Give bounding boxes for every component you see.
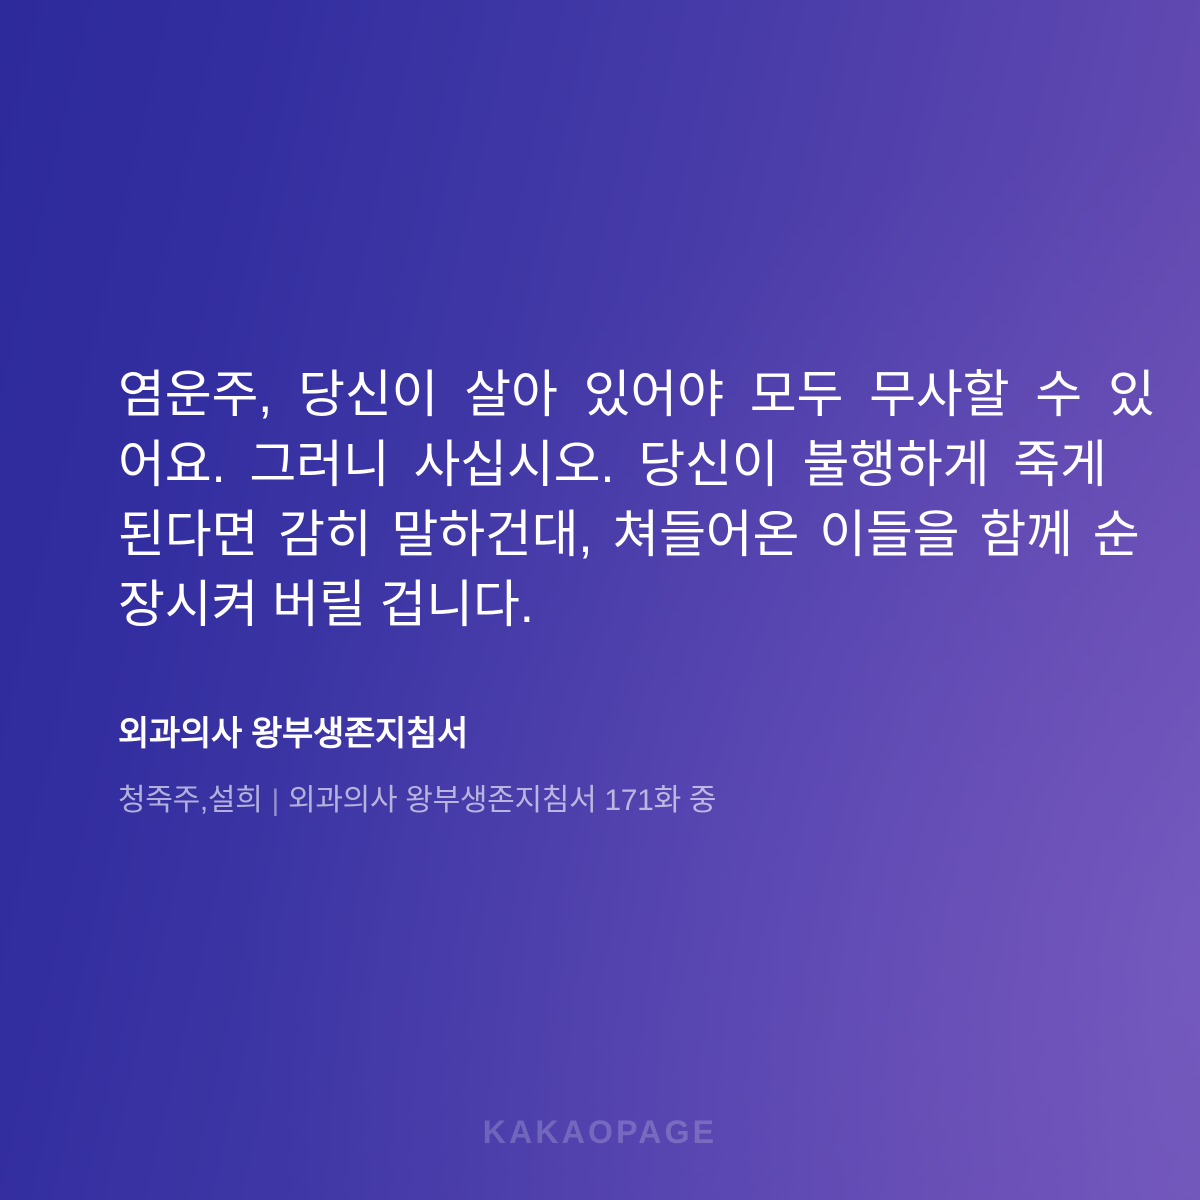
attribution: 청죽주,설희|외과의사 왕부생존지침서 171화 중 <box>118 780 1118 822</box>
separator-icon: | <box>263 780 289 822</box>
quote-card: 염운주, 당신이 살아 있어야 모두 무사할 수 있 어요. 그러니 사십시오.… <box>0 0 1200 1200</box>
quote-line: 염운주, 당신이 살아 있어야 모두 무사할 수 있 <box>118 360 1086 430</box>
work-title: 외과의사 왕부생존지침서 <box>118 712 1118 756</box>
kakaopage-wordmark: KAKAOPAGE <box>0 1112 1200 1152</box>
source-reference: 외과의사 왕부생존지침서 171화 중 <box>288 784 716 817</box>
quote-block: 염운주, 당신이 살아 있어야 모두 무사할 수 있 어요. 그러니 사십시오.… <box>118 360 1086 640</box>
quote-line: 어요. 그러니 사십시오. 당신이 불행하게 죽게 <box>118 430 1086 500</box>
quote-attribution-block: 외과의사 왕부생존지침서 청죽주,설희|외과의사 왕부생존지침서 171화 중 <box>118 712 1118 822</box>
authors: 청죽주,설희 <box>118 784 263 817</box>
quote-line: 된다면 감히 말하건대, 쳐들어온 이들을 함께 순 <box>118 500 1086 570</box>
quote-line: 장시켜 버릴 겁니다. <box>118 570 1086 640</box>
